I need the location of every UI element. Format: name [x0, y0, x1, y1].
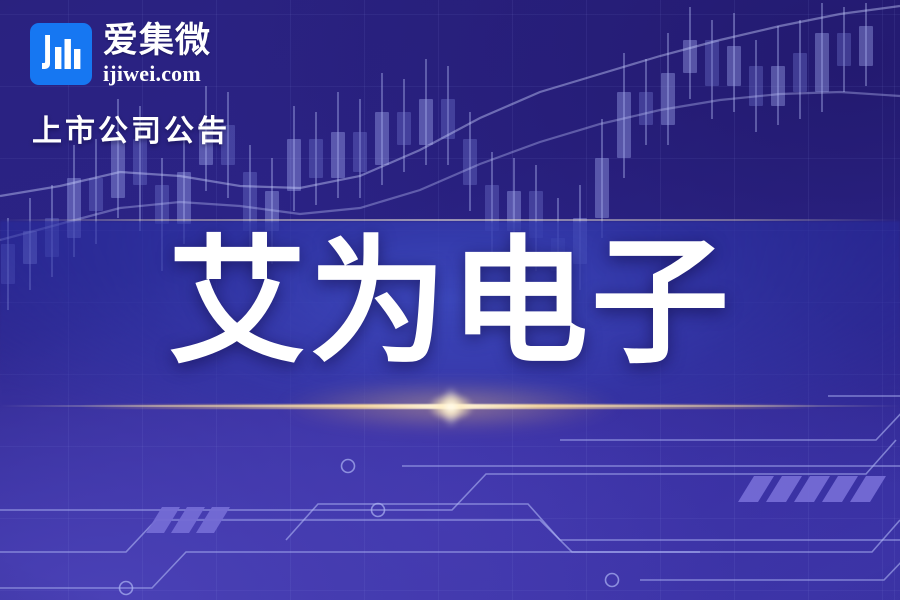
page-title: 艾为电子	[0, 228, 900, 378]
circuit-trace-icon	[0, 440, 896, 510]
brand-name-en: ijiwei.com	[103, 63, 211, 85]
category-label: 上市公司公告	[32, 106, 230, 150]
circuit-trace-icon	[0, 552, 700, 588]
circuit-trace-icon	[0, 520, 900, 552]
circuit-node-icon	[342, 460, 355, 473]
chip-bars-right	[738, 476, 886, 502]
bar-chart-logo-icon	[30, 23, 92, 85]
site-logo[interactable]: 爱集微 ijiwei.com	[30, 23, 211, 85]
brand-text: 爱集微 ijiwei.com	[103, 23, 211, 85]
announcement-banner: 爱集微 ijiwei.com 上市公司公告 艾为电子	[0, 0, 900, 600]
brand-name-cn: 爱集微	[103, 23, 211, 58]
sheen-line-top	[0, 219, 900, 221]
circuit-trace-icon	[560, 408, 900, 440]
circuit-trace-icon	[640, 558, 900, 580]
chip-bars-left	[146, 507, 230, 533]
circuit-board-pattern	[0, 392, 900, 600]
circuit-node-icon	[606, 574, 619, 587]
